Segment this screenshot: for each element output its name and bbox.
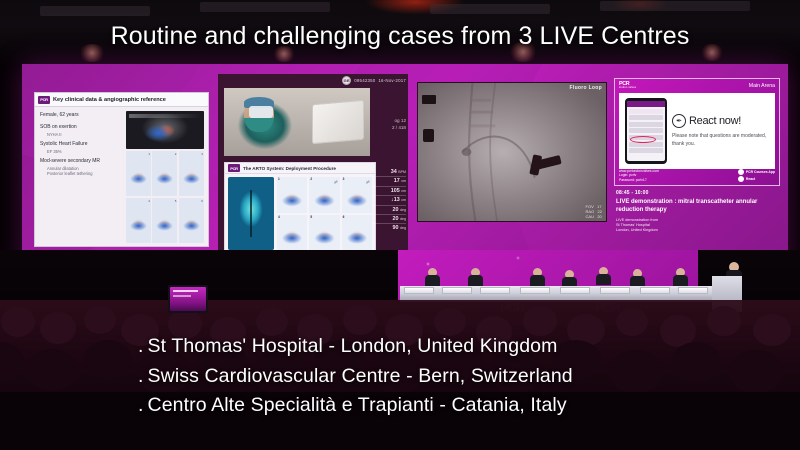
list-bullet: . — [138, 365, 144, 387]
highlight-ellipse-icon — [630, 136, 656, 143]
deploy-slide-title: The ARTO System: Deployment Procedure — [243, 166, 336, 171]
readout-line: 2 / 418 — [392, 125, 406, 130]
react-now-subtitle: Please note that questions are moderated… — [672, 133, 769, 148]
echo-thumbnail: 1 — [126, 151, 151, 196]
list-item: Mod-severe secondary MR — [40, 158, 121, 164]
react-card-footer: www.pcrlondonvalves.com Login: pcrlv Pas… — [619, 169, 775, 182]
step-number: 1 — [278, 177, 280, 181]
pen-icon: ✒ — [672, 114, 686, 128]
step-note: AV — [333, 179, 338, 185]
slide-header: PCR Key clinical data & angiographic ref… — [35, 93, 208, 107]
echo-thumbnail: 4 — [126, 198, 151, 243]
presentation-photo: PCR Key clinical data & angiographic ref… — [0, 0, 800, 450]
surgical-mask — [249, 106, 273, 118]
step-number: 4 — [278, 215, 280, 219]
echo-thumbnail-grid: 1 2 3 4 5 6 — [126, 151, 204, 243]
deployment-step: 4 — [277, 215, 307, 251]
react-card-header: PCR london valves Main Arena — [615, 79, 779, 92]
nameplate — [480, 287, 510, 294]
deployment-step: 2AV — [309, 177, 339, 213]
pcr-logo-icon: PCR — [38, 96, 50, 104]
slide-body: Female, 62 years SOB on exertion NYHA II… — [35, 107, 208, 246]
echo-thumbnail-index: 5 — [175, 199, 177, 203]
fluoroscopy-anatomy — [418, 83, 606, 221]
measurement-row: 20 deg — [372, 206, 406, 215]
catheter-device-marker — [423, 129, 434, 142]
panelist — [562, 270, 577, 287]
step-note: AV — [365, 179, 370, 185]
echo-thumbnail: 3 — [179, 151, 204, 196]
measurement-value: 20 — [393, 216, 399, 222]
list-item: .Swiss Cardiovascular Centre - Bern, Swi… — [138, 362, 778, 392]
nameplate — [520, 287, 550, 294]
app-list-row — [629, 115, 663, 120]
echo-thumbnail-index: 1 — [148, 152, 150, 156]
deployment-step: 6 — [342, 215, 372, 251]
echo-image-column: 1 2 3 4 5 6 — [125, 107, 208, 246]
measurement-value: 17 — [394, 178, 400, 184]
operator-video-feed — [224, 88, 370, 156]
list-item: Systolic Heart Failure — [40, 141, 121, 147]
deployment-step: 1 — [277, 177, 307, 213]
react-now-panel: PCR london valves Main Arena — [614, 78, 780, 258]
react-now-heading: ✒ React now! — [672, 114, 769, 128]
step-number: 2 — [310, 177, 312, 181]
echo-thumbnail: 2 — [152, 151, 177, 196]
footer-credentials: www.pcrlondonvalves.com Login: pcrlv Pas… — [619, 169, 659, 182]
echo-thumbnail-index: 3 — [201, 152, 203, 156]
nameplate — [678, 287, 708, 294]
panelist-body — [673, 275, 688, 286]
echocardiogram-image — [126, 111, 204, 149]
footer-app-badges: PCR Courses App React — [738, 169, 775, 182]
app-list-row — [629, 128, 663, 133]
panelist-body — [596, 274, 611, 285]
phone-mockup — [625, 98, 667, 164]
react-badge-label: React — [746, 177, 755, 181]
hemodynamic-measurements: 34 BPM 17 cm 105 cm ↓13 cm 20 deg 20 deg… — [372, 168, 406, 233]
react-now-card: PCR london valves Main Arena — [614, 78, 780, 186]
echo-thumbnail: 5 — [152, 198, 177, 243]
measurement-unit: cm — [401, 198, 406, 202]
panelist — [530, 268, 545, 285]
confidence-monitor-screen — [170, 287, 206, 311]
courses-app-label: PCR Courses App — [746, 170, 775, 174]
app-icon — [738, 169, 744, 175]
video-side-readout: og 12 2 / 418 — [372, 118, 406, 132]
list-item: Annular dilatation — [47, 166, 121, 171]
ceiling-truss — [40, 6, 150, 16]
pcr-logo-subtext: london valves — [619, 87, 636, 90]
list-bullet: . — [138, 335, 144, 357]
list-item-label: St Thomas' Hospital - London, United Kin… — [148, 335, 558, 357]
deploy-slide-body: 1 2AV 3AV 4 5 6 — [225, 174, 375, 253]
anatomy-illustration — [228, 177, 274, 250]
measurement-value: 105 — [391, 188, 400, 194]
measurement-value: 90 — [393, 225, 399, 231]
list-bullet: . — [138, 394, 144, 416]
phone-screen — [627, 101, 665, 161]
echo-thumbnail-index: 6 — [201, 199, 203, 203]
ceiling-truss — [200, 2, 330, 12]
measurement-unit: deg — [400, 226, 406, 230]
list-item: .Centro Alte Specialità e Trapianti - Ca… — [138, 391, 778, 421]
measurement-value: ↓13 — [391, 197, 400, 203]
step-number: 3 — [343, 177, 345, 181]
panelist — [425, 268, 440, 285]
measurement-value: 34 — [391, 169, 397, 175]
confidence-monitor — [168, 285, 208, 313]
readout-line: og 12 — [395, 118, 407, 123]
courses-app-badge: PCR Courses App — [738, 169, 775, 175]
clinical-bullet-list: Female, 62 years SOB on exertion NYHA II… — [35, 107, 125, 246]
cath-lab-equipment — [312, 100, 364, 145]
echo-thumbnail-index: 4 — [148, 199, 150, 203]
step-number: 5 — [310, 215, 312, 219]
nameplate — [640, 287, 670, 294]
deployment-step-grid: 1 2AV 3AV 4 5 6 — [277, 177, 372, 250]
deployment-step: 3AV — [342, 177, 372, 213]
live-case-center-panel: GE 09542350 16-Nov-2017 og 12 2 / 418 PC… — [218, 74, 408, 264]
panelist-body — [425, 275, 440, 286]
react-now-title: React now! — [689, 115, 741, 127]
measurement-unit: cm — [401, 179, 406, 183]
footer-login: Login: pcrlv Password: pcrlv17 — [619, 173, 659, 182]
app-list-row — [629, 109, 663, 114]
react-now-text: ✒ React now! Please note that questions … — [672, 114, 769, 148]
slide-card: PCR Key clinical data & angiographic ref… — [34, 92, 209, 247]
slide-title: Key clinical data & angiographic referen… — [53, 97, 166, 103]
patient-id: 09542350 — [354, 78, 375, 83]
panelist-body — [530, 275, 545, 286]
measurement-row: 17 cm — [372, 177, 406, 186]
echo-thumbnail: 6 — [179, 198, 204, 243]
ceiling-truss — [430, 4, 550, 14]
ceiling-truss — [600, 1, 750, 11]
deployment-step: 5 — [309, 215, 339, 251]
measurement-unit: deg — [400, 217, 406, 221]
arena-label: Main Arena — [749, 83, 775, 89]
list-item: Posterior leaflet tethering — [47, 171, 121, 176]
measurement-row: 34 BPM — [372, 168, 406, 177]
measurement-row: 105 cm — [372, 187, 406, 196]
echo-thumbnail-index: 2 — [175, 152, 177, 156]
fluoroscopy-panel: Fluoro Loop FOV 17 RAO 22 CAU 20 — [417, 82, 607, 222]
react-icon — [738, 176, 744, 182]
page-title: Routine and challenging cases from 3 LIV… — [0, 22, 800, 51]
agenda-title: LIVE demonstration : mitral transcathete… — [616, 198, 780, 214]
measurement-unit: deg — [400, 208, 406, 212]
fluoro-loop-label: Fluoro Loop — [570, 85, 602, 91]
nameplate — [404, 287, 434, 294]
ge-logo-icon: GE — [342, 76, 351, 85]
list-item: SOB on exertion — [40, 124, 121, 130]
react-now-content: ✒ React now! Please note that questions … — [619, 93, 775, 169]
measurement-row: 20 deg — [372, 215, 406, 224]
catheter-device-marker — [422, 95, 436, 104]
list-item: EF 35% — [47, 149, 121, 154]
list-item: Female, 62 years — [40, 112, 121, 118]
pcr-logo-icon: PCR london valves — [619, 82, 636, 90]
agenda-location: LIVE demonstration from St Thomas' Hospi… — [616, 218, 780, 233]
study-header: GE 09542350 16-Nov-2017 — [342, 76, 406, 85]
list-item: NYHA II — [47, 132, 121, 137]
nameplate — [442, 287, 472, 294]
list-item-label: Centro Alte Specialità e Trapianti - Cat… — [148, 394, 567, 416]
agenda-time: 08:45 - 10:00 — [616, 190, 780, 196]
panelist — [596, 267, 611, 284]
nameplate — [600, 287, 630, 294]
panelist — [673, 268, 688, 285]
nameplate — [560, 287, 590, 294]
app-header-bar — [627, 101, 665, 107]
list-item-label: Swiss Cardiovascular Centre - Bern, Swit… — [148, 365, 573, 387]
app-list-row — [629, 148, 663, 153]
pcr-logo-icon: PCR — [228, 164, 240, 172]
panelist — [468, 268, 483, 285]
fluoro-parameters: FOV 17 RAO 22 CAU 20 — [586, 204, 602, 219]
step-number: 6 — [343, 215, 345, 219]
app-list-row — [629, 122, 663, 127]
slide-key-clinical-data: PCR Key clinical data & angiographic ref… — [34, 92, 209, 247]
measurement-value: 20 — [393, 207, 399, 213]
panelist-body — [468, 275, 483, 286]
measurement-row: 90 deg — [372, 224, 406, 232]
measurement-unit: cm — [401, 189, 406, 193]
study-date: 16-Nov-2017 — [378, 78, 406, 83]
slide-arto-deployment: PCR The ARTO System: Deployment Procedur… — [224, 162, 376, 254]
list-item: .St Thomas' Hospital - London, United Ki… — [138, 332, 778, 362]
react-badge: React — [738, 176, 775, 182]
measurement-unit: BPM — [398, 170, 406, 174]
deploy-slide-header: PCR The ARTO System: Deployment Procedur… — [225, 163, 375, 174]
measurement-row: ↓13 cm — [372, 196, 406, 205]
session-agenda: 08:45 - 10:00 LIVE demonstration : mitra… — [616, 190, 780, 234]
centre-list: .St Thomas' Hospital - London, United Ki… — [138, 332, 778, 421]
panelist — [630, 269, 645, 286]
